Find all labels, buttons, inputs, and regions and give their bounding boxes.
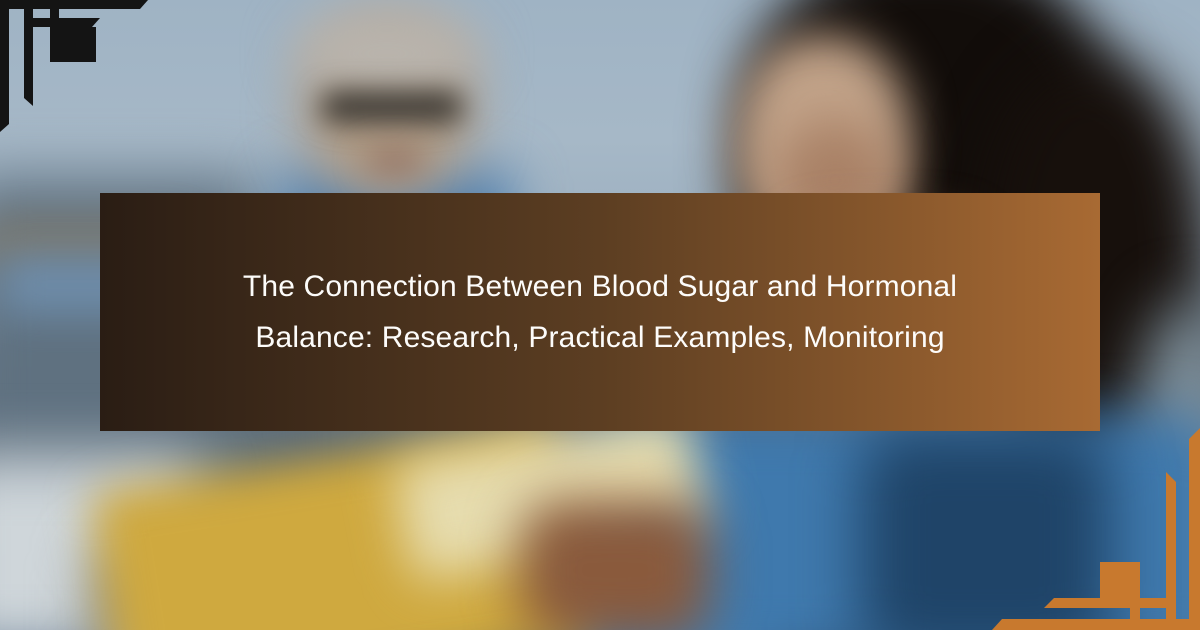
background-man-hair <box>292 6 482 101</box>
background-man-glasses <box>322 92 462 122</box>
share-card: The Connection Between Blood Sugar and H… <box>0 0 1200 630</box>
background-hand <box>520 500 710 630</box>
background-man-mouth <box>365 150 425 172</box>
background-scrubs-shadow <box>860 430 1110 630</box>
title-banner: The Connection Between Blood Sugar and H… <box>100 193 1100 431</box>
page-title: The Connection Between Blood Sugar and H… <box>205 261 995 363</box>
